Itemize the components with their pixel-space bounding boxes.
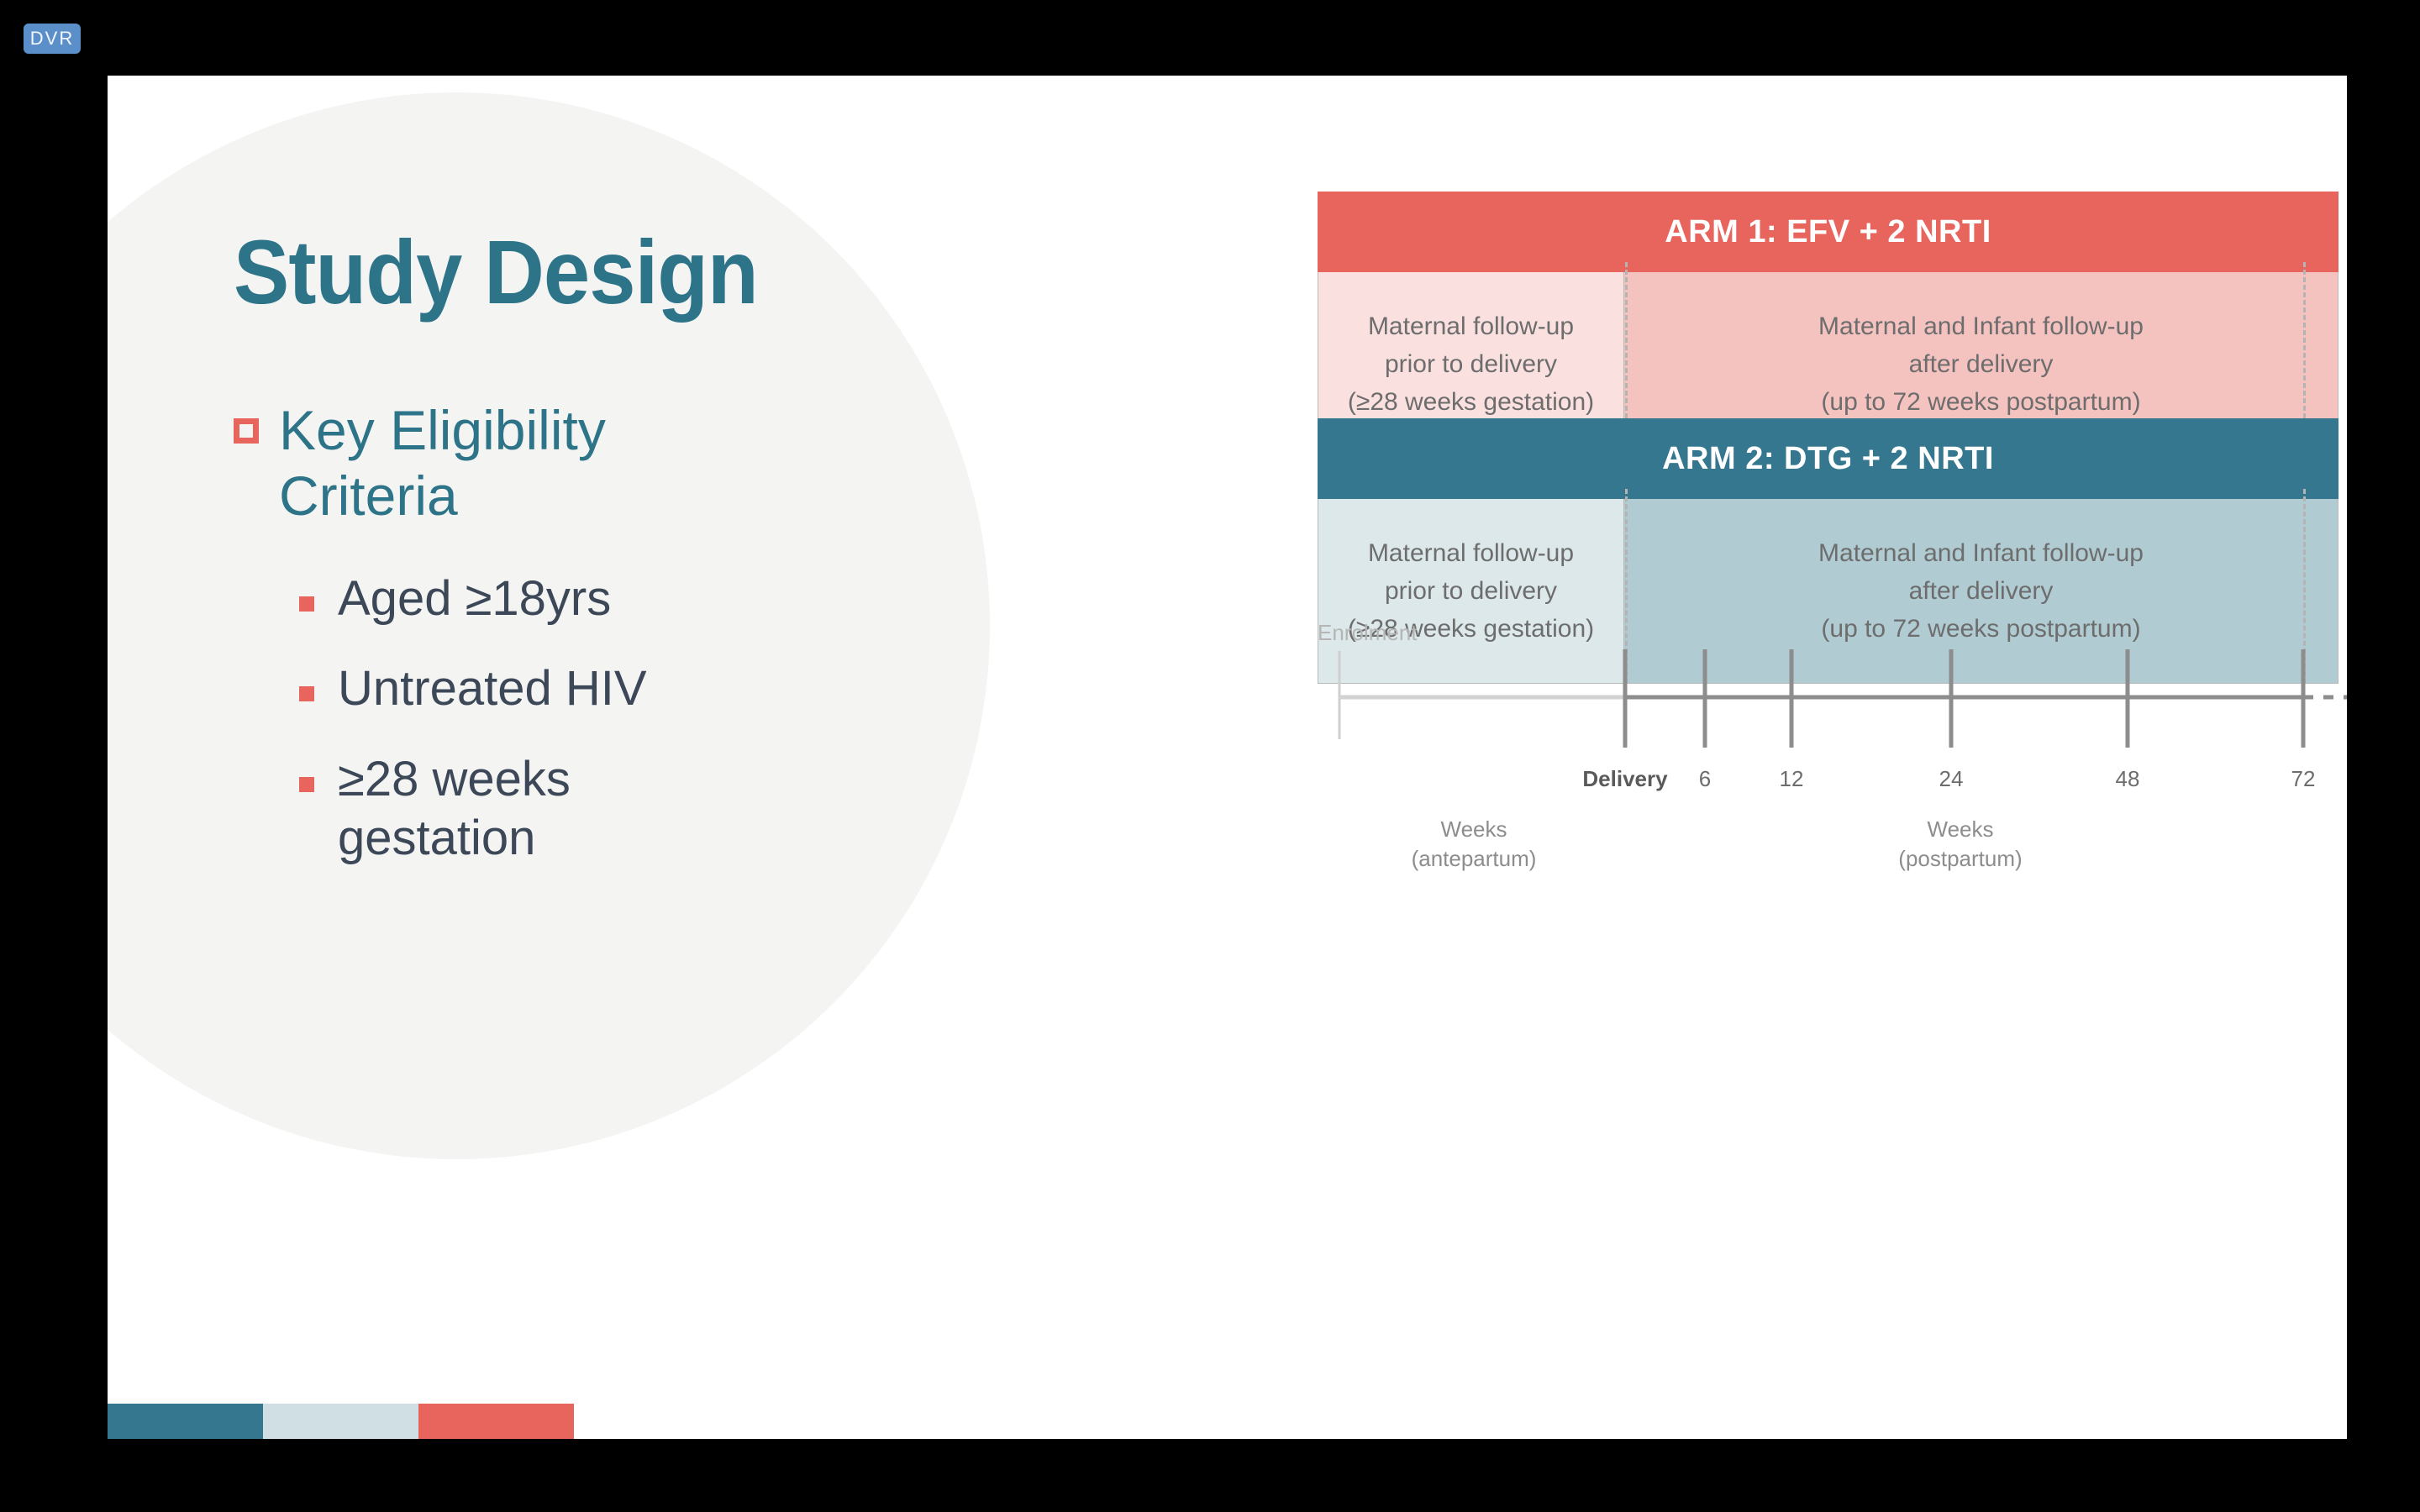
axis-label-antepartum: Weeks (antepartum) (1373, 815, 1575, 874)
tick-label-week-24: 24 (1939, 766, 1964, 792)
axis-label-antepartum-line-2: (antepartum) (1373, 844, 1575, 874)
arm-2-post-line-1: Maternal and Infant follow-up (1818, 534, 2144, 572)
study-design-diagram: ARM 1: EFV + 2 NRTI Maternal follow-up p… (1318, 76, 2347, 1439)
solid-square-bullet-icon (299, 686, 314, 701)
arm-1-ante-line-3: (≥28 weeks gestation) (1348, 383, 1594, 421)
bullet-heading-label: Key Eligibility Criteria (279, 398, 750, 529)
tick-label-week-12: 12 (1780, 766, 1804, 792)
list-item: Untreated HIV (299, 659, 1032, 718)
hollow-square-bullet-icon (234, 418, 259, 444)
week72-dashed-connector-lower (2303, 489, 2306, 684)
tick-label-delivery: Delivery (1582, 766, 1667, 792)
dvr-badge: DVR (24, 24, 81, 54)
solid-square-bullet-icon (299, 777, 314, 792)
footer-color-bar (108, 1404, 574, 1439)
arm-2-postpartum-cell: Maternal and Infant follow-up after deli… (1624, 499, 2338, 684)
arm-1-box: ARM 1: EFV + 2 NRTI Maternal follow-up p… (1318, 192, 2338, 457)
arm-1-ante-line-1: Maternal follow-up (1348, 307, 1594, 345)
footer-bar-segment-red (418, 1404, 574, 1439)
arm-1-ante-line-2: prior to delivery (1348, 345, 1594, 383)
axis-label-postpartum-line-2: (postpartum) (1860, 844, 2061, 874)
axis-label-antepartum-line-1: Weeks (1373, 815, 1575, 844)
axis-label-postpartum: Weeks (postpartum) (1860, 815, 2061, 874)
arm-2-ante-line-3: (≥28 weeks gestation) (1348, 610, 1594, 648)
delivery-dashed-connector-lower (1625, 489, 1628, 684)
delivery-dashed-connector-upper (1625, 262, 1628, 418)
arm-1-post-line-3: (up to 72 weeks postpartum) (1818, 383, 2144, 421)
arm-2-antepartum-cell: Maternal follow-up prior to delivery (≥2… (1318, 499, 1624, 684)
slide-canvas: Study Design Key Eligibility Criteria Ag… (108, 76, 2347, 1439)
arm-2-ante-line-2: prior to delivery (1348, 572, 1594, 610)
arm-2-post-line-2: after delivery (1818, 572, 2144, 610)
list-item: ≥28 weeks gestation (299, 750, 1032, 867)
tick-label-week-6: 6 (1699, 766, 1711, 792)
list-item-label: ≥28 weeks gestation (338, 750, 708, 867)
left-content-column: Study Design Key Eligibility Criteria Ag… (234, 227, 1032, 899)
list-item: Aged ≥18yrs (299, 570, 1032, 628)
page-title: Study Design (234, 227, 968, 318)
arm-2-body: Maternal follow-up prior to delivery (≥2… (1318, 499, 2338, 684)
arm-2-post-line-3: (up to 72 weeks postpartum) (1818, 610, 2144, 648)
solid-square-bullet-icon (299, 596, 314, 612)
arm-1-post-line-1: Maternal and Infant follow-up (1818, 307, 2144, 345)
list-item-label: Untreated HIV (338, 659, 647, 718)
arm-2-header: ARM 2: DTG + 2 NRTI (1318, 418, 2338, 499)
eligibility-sub-list: Aged ≥18yrs Untreated HIV ≥28 weeks gest… (299, 570, 1032, 867)
tick-label-week-72: 72 (2291, 766, 2316, 792)
arm-2-box: ARM 2: DTG + 2 NRTI Maternal follow-up p… (1318, 418, 2338, 684)
arm-2-ante-line-1: Maternal follow-up (1348, 534, 1594, 572)
bullet-heading-row: Key Eligibility Criteria (234, 398, 1032, 529)
arm-1-post-line-2: after delivery (1818, 345, 2144, 383)
axis-label-postpartum-line-1: Weeks (1860, 815, 2061, 844)
footer-bar-segment-teal (108, 1404, 263, 1439)
week72-dashed-connector-upper (2303, 262, 2306, 418)
footer-bar-segment-light (263, 1404, 418, 1439)
arm-1-header: ARM 1: EFV + 2 NRTI (1318, 192, 2338, 272)
list-item-label: Aged ≥18yrs (338, 570, 611, 628)
tick-label-week-48: 48 (2116, 766, 2140, 792)
